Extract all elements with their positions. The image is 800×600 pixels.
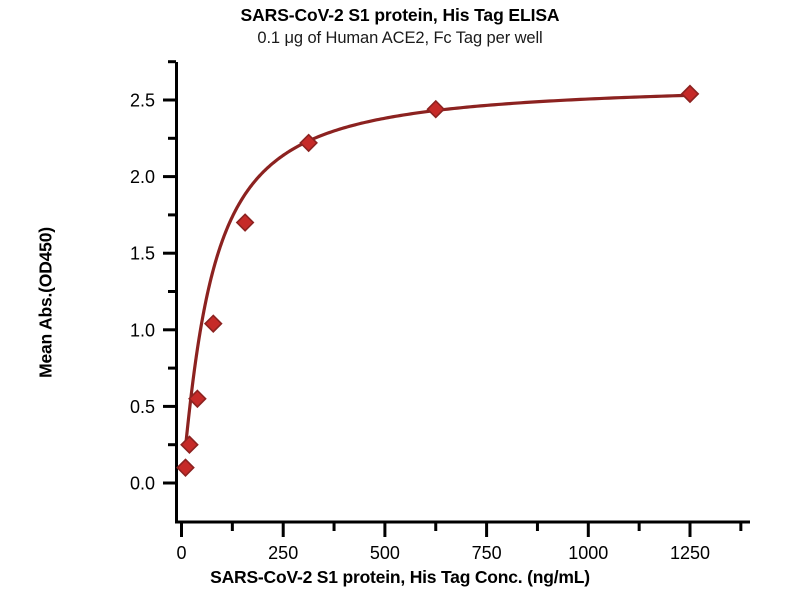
x-axis-tick-label: 1000 — [568, 543, 608, 563]
y-axis-tick-label: 0.0 — [130, 474, 155, 494]
y-axis-tick-label: 2.0 — [130, 167, 155, 187]
axis-spines — [175, 62, 750, 524]
data-point-markers — [177, 86, 698, 476]
data-point-marker — [428, 101, 444, 117]
chart-figure: SARS-CoV-2 S1 protein, His Tag ELISA 0.1… — [0, 0, 800, 600]
y-axis-tick-labels: 0.00.51.01.52.02.5 — [130, 91, 155, 494]
x-axis-title: SARS-CoV-2 S1 protein, His Tag Conc. (ng… — [0, 567, 800, 588]
y-axis-tick-label: 1.5 — [130, 244, 155, 264]
data-point-marker — [237, 214, 253, 230]
data-point-marker — [205, 315, 221, 331]
x-axis-tick-label: 750 — [472, 543, 502, 563]
x-axis-tick-label: 500 — [370, 543, 400, 563]
y-axis-title: Mean Abs.(OD450) — [36, 183, 57, 423]
data-point-marker — [181, 437, 197, 453]
x-axis-tick-label: 250 — [268, 543, 298, 563]
plot-area: 0.00.51.01.52.02.5 025050075010001250 — [0, 0, 800, 600]
y-axis-tick-label: 0.5 — [130, 397, 155, 417]
binding-curve — [185, 95, 690, 447]
y-axis-tick-label: 1.0 — [130, 320, 155, 340]
x-axis-tick-labels: 025050075010001250 — [176, 543, 710, 563]
y-axis-tick-label: 2.5 — [130, 91, 155, 111]
data-point-marker — [177, 459, 193, 475]
x-axis-ticks — [182, 523, 741, 537]
x-axis-tick-label: 0 — [176, 543, 186, 563]
x-axis-tick-label: 1250 — [670, 543, 710, 563]
y-axis-ticks — [163, 62, 176, 483]
data-point-marker — [682, 86, 698, 102]
